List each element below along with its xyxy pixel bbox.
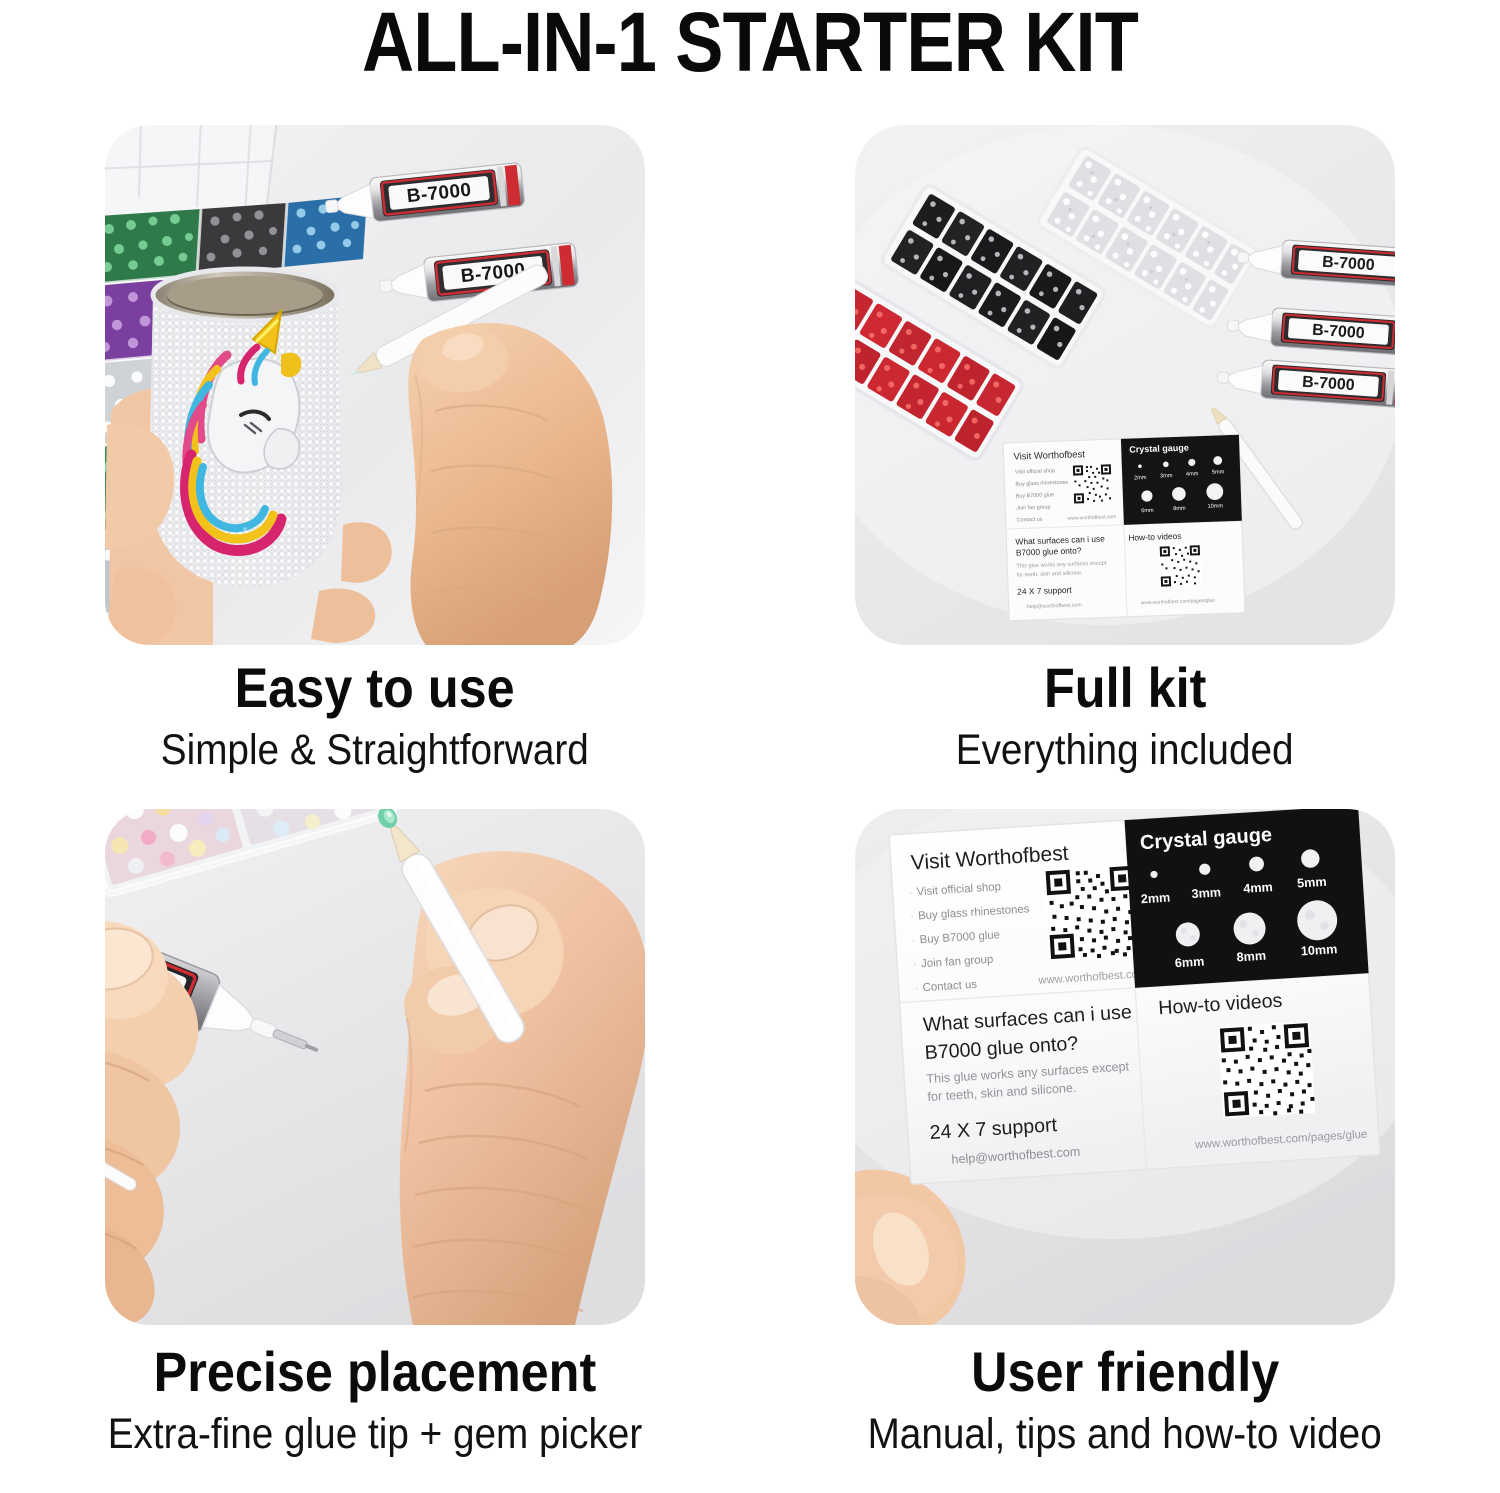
svg-text:·: · — [913, 959, 917, 971]
feature-subtitle-user-friendly: Manual, tips and how-to video — [868, 1408, 1382, 1460]
gauge-label-2mm: 2mm — [1140, 890, 1170, 906]
feature-heading-precise-placement: Precise placement — [154, 1342, 597, 1402]
instruction-card-small: Visit Worthofbest Visit official shop Bu… — [1003, 435, 1245, 621]
gauge-label-10mm: 10mm — [1300, 942, 1337, 958]
feature-cell-easy-to-use: B-7000 — [0, 96, 750, 796]
feature-subtitle-easy-to-use: Simple & Straightforward — [161, 724, 589, 776]
photo-easy-to-use: B-7000 — [105, 125, 645, 645]
feature-subtitle-precise-placement: Extra-fine glue tip + gem picker — [108, 1408, 643, 1460]
feature-subtitle-full-kit: Everything included — [956, 724, 1294, 776]
feature-cell-user-friendly: Visit Worthofbest Visit official shop Bu… — [750, 796, 1500, 1493]
svg-text:How-to videos: How-to videos — [1128, 531, 1181, 543]
svg-text:Contact us: Contact us — [1017, 517, 1043, 524]
qr-code-shop — [1043, 864, 1141, 962]
photo-user-friendly: Visit Worthofbest Visit official shop Bu… — [855, 809, 1395, 1325]
photo-full-kit-wrap: B-7000 B-7000 — [845, 120, 1405, 650]
gauge-label-6mm: 6mm — [1174, 954, 1204, 970]
qr-code-videos — [1218, 1021, 1316, 1119]
svg-text:5mm: 5mm — [1212, 469, 1225, 475]
gauge-label-3mm: 3mm — [1191, 885, 1221, 901]
feature-heading-full-kit: Full kit — [1044, 658, 1206, 718]
photo-precise-placement-wrap: B-7000 — [95, 802, 655, 1332]
svg-text:6mm: 6mm — [1141, 508, 1154, 514]
svg-text:3mm: 3mm — [1160, 473, 1173, 479]
svg-text:24 X 7 support: 24 X 7 support — [1017, 585, 1072, 597]
photo-precise-placement: B-7000 — [105, 809, 645, 1325]
svg-text:10mm: 10mm — [1207, 503, 1223, 510]
photo-full-kit: B-7000 B-7000 — [855, 125, 1395, 645]
photo-user-friendly-wrap: Visit Worthofbest Visit official shop Bu… — [845, 802, 1405, 1332]
feature-heading-easy-to-use: Easy to use — [235, 658, 515, 718]
feature-cell-full-kit: B-7000 B-7000 — [750, 96, 1500, 796]
feature-heading-user-friendly: User friendly — [971, 1342, 1279, 1402]
page-title: ALL-IN-1 STARTER KIT — [105, 0, 1395, 88]
crystal-gauge: Crystal gauge 2mm 3m — [1125, 809, 1369, 988]
svg-text:8mm: 8mm — [1173, 506, 1186, 512]
svg-text:·: · — [914, 982, 918, 994]
product-infographic: ALL-IN-1 STARTER KIT — [0, 0, 1500, 1493]
feature-cell-precise-placement: B-7000 — [0, 796, 750, 1493]
svg-text:2mm: 2mm — [1134, 475, 1147, 481]
gauge-label-8mm: 8mm — [1236, 949, 1266, 965]
svg-text:Crystal gauge: Crystal gauge — [1129, 443, 1189, 455]
feature-grid: B-7000 — [0, 96, 1500, 1493]
gauge-label-5mm: 5mm — [1297, 875, 1327, 891]
svg-text:·: · — [908, 887, 912, 899]
instruction-card: Visit Worthofbest Visit official shop Bu… — [889, 809, 1380, 1184]
svg-text:Join fan group: Join fan group — [1016, 504, 1050, 511]
svg-text:·: · — [911, 935, 915, 947]
svg-text:4mm: 4mm — [1186, 471, 1199, 477]
svg-text:·: · — [910, 911, 914, 923]
photo-easy-to-use-wrap: B-7000 — [95, 120, 655, 650]
gauge-label-4mm: 4mm — [1243, 880, 1273, 896]
